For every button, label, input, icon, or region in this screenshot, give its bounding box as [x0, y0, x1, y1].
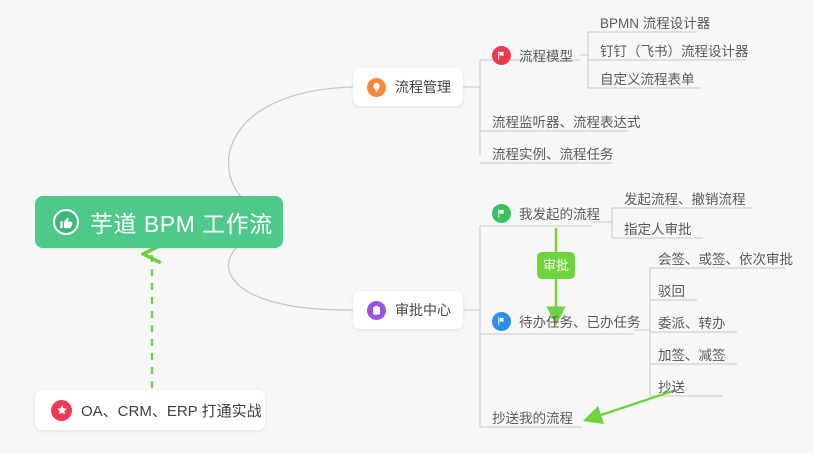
- leaf-node-assignee-approval[interactable]: 指定人审批: [624, 218, 692, 242]
- lightbulb-icon: [367, 78, 386, 97]
- clipboard-icon: [367, 301, 386, 320]
- leaf-label: 委派、转办: [658, 312, 726, 332]
- leaf-node-start-cancel-process[interactable]: 发起流程、撤销流程: [624, 188, 746, 212]
- leaf-label: 抄送: [658, 376, 685, 396]
- branch-label: 流程管理: [395, 77, 451, 97]
- leaf-label: 我发起的流程: [519, 203, 600, 223]
- flag-icon: [492, 46, 511, 65]
- leaf-label: 发起流程、撤销流程: [624, 188, 746, 208]
- leaf-node-countersign[interactable]: 会签、或签、依次审批: [658, 248, 793, 272]
- branch-label: 审批中心: [395, 300, 451, 320]
- leaf-node-process-model[interactable]: 流程模型: [492, 45, 573, 69]
- integration-label: OA、CRM、ERP 打通实战: [81, 400, 262, 421]
- star-icon: [51, 400, 72, 421]
- leaf-node-custom-form[interactable]: 自定义流程表单: [600, 68, 695, 92]
- leaf-label: 指定人审批: [624, 218, 692, 238]
- leaf-label: 钉钉（飞书）流程设计器: [600, 40, 749, 60]
- leaf-label: 自定义流程表单: [600, 68, 695, 88]
- leaf-node-listener-expression[interactable]: 流程监听器、流程表达式: [492, 111, 641, 135]
- leaf-label: 加签、减签: [658, 344, 726, 364]
- leaf-node-reject[interactable]: 驳回: [658, 280, 685, 304]
- leaf-label: 待办任务、已办任务: [519, 311, 641, 331]
- leaf-node-my-initiated[interactable]: 我发起的流程: [492, 203, 600, 227]
- leaf-node-add-remove-sign[interactable]: 加签、减签: [658, 344, 726, 368]
- leaf-label: BPMN 流程设计器: [600, 12, 710, 32]
- branch-node-process-management[interactable]: 流程管理: [353, 68, 463, 106]
- leaf-label: 流程模型: [519, 45, 573, 65]
- leaf-label: 驳回: [658, 280, 685, 300]
- approval-badge: 审批: [537, 252, 575, 279]
- leaf-label: 会签、或签、依次审批: [658, 248, 793, 268]
- mindmap-canvas: 芋道 BPM 工作流 流程管理 流程模型 BPMN 流程设计器 钉钉（飞书）流程…: [0, 0, 814, 453]
- thumbs-up-icon: [53, 209, 79, 235]
- leaf-node-cc[interactable]: 抄送: [658, 376, 685, 400]
- root-label: 芋道 BPM 工作流: [90, 205, 273, 239]
- branch-node-approval-center[interactable]: 审批中心: [353, 291, 463, 329]
- flag-icon: [492, 312, 511, 331]
- leaf-node-todo-done-tasks[interactable]: 待办任务、已办任务: [492, 311, 641, 335]
- leaf-node-bpmn-designer[interactable]: BPMN 流程设计器: [600, 12, 710, 36]
- root-node[interactable]: 芋道 BPM 工作流: [35, 196, 283, 248]
- leaf-label: 流程监听器、流程表达式: [492, 111, 641, 131]
- flag-icon: [492, 204, 511, 223]
- integration-node[interactable]: OA、CRM、ERP 打通实战: [35, 390, 265, 430]
- leaf-label: 流程实例、流程任务: [492, 143, 614, 163]
- approval-badge-label: 审批: [543, 259, 569, 272]
- leaf-node-delegate-transfer[interactable]: 委派、转办: [658, 312, 726, 336]
- leaf-node-instance-task[interactable]: 流程实例、流程任务: [492, 143, 614, 167]
- leaf-node-cc-to-me[interactable]: 抄送我的流程: [492, 407, 573, 431]
- leaf-node-dingtalk-designer[interactable]: 钉钉（飞书）流程设计器: [600, 40, 749, 64]
- leaf-label: 抄送我的流程: [492, 407, 573, 427]
